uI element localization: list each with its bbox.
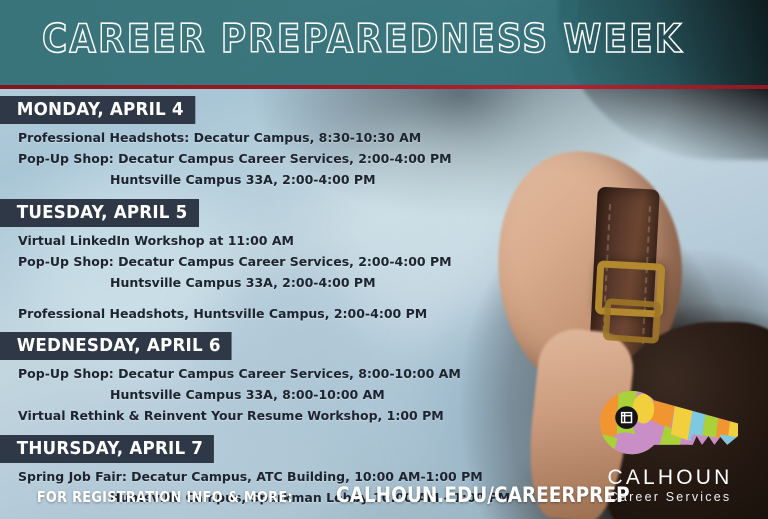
page-title: CAREER PREPAREDNESS WEEK [42, 18, 658, 62]
event-list-wednesday: Pop-Up Shop: Decatur Campus Career Servi… [0, 363, 560, 426]
day-heading-tuesday: TUESDAY, APRIL 5 [0, 199, 199, 227]
colorful-key-icon [595, 387, 745, 461]
event-item: Virtual Rethink & Reinvent Your Resume W… [0, 405, 560, 426]
day-block-monday: MONDAY, APRIL 4 Professional Headshots: … [0, 96, 560, 190]
day-heading-thursday: THURSDAY, APRIL 7 [0, 435, 214, 463]
schedule-list: MONDAY, APRIL 4 Professional Headshots: … [0, 96, 560, 508]
event-item: Huntsville Campus 33A, 8:00-10:00 AM [0, 384, 560, 405]
day-block-tuesday: TUESDAY, APRIL 5 Virtual LinkedIn Worksh… [0, 199, 560, 324]
header-divider [0, 85, 768, 89]
event-list-tuesday: Virtual LinkedIn Workshop at 11:00 AM Po… [0, 230, 560, 324]
day-heading-monday: MONDAY, APRIL 4 [0, 96, 195, 124]
cta-url-link[interactable]: CALHOUN.EDU/CAREERPREP [336, 483, 630, 507]
event-item: Pop-Up Shop: Decatur Campus Career Servi… [0, 148, 560, 169]
logo-tagline: Career Services [590, 489, 750, 505]
event-item: Virtual LinkedIn Workshop at 11:00 AM [0, 230, 560, 251]
cta-prefix-label: FOR REGISTRATION INFO & MORE: [37, 488, 293, 506]
event-item: Professional Headshots, Huntsville Campu… [0, 303, 560, 324]
event-list-monday: Professional Headshots: Decatur Campus, … [0, 127, 560, 190]
event-item: Huntsville Campus 33A, 2:00-4:00 PM [0, 272, 560, 293]
event-item: Huntsville Campus 33A, 2:00-4:00 PM [0, 169, 560, 190]
event-item: Pop-Up Shop: Decatur Campus Career Servi… [0, 251, 560, 272]
day-heading-wednesday: WEDNESDAY, APRIL 6 [0, 332, 232, 360]
day-block-wednesday: WEDNESDAY, APRIL 6 Pop-Up Shop: Decatur … [0, 332, 560, 426]
event-item: Pop-Up Shop: Decatur Campus Career Servi… [0, 363, 560, 384]
event-item: Professional Headshots: Decatur Campus, … [0, 127, 560, 148]
logo-emblem-circle [615, 406, 638, 429]
logo-wordmark: CALHOUN [590, 467, 750, 489]
poster-canvas: CAREER PREPAREDNESS WEEK MONDAY, APRIL 4… [0, 0, 768, 519]
registration-cta: FOR REGISTRATION INFO & MORE: CALHOUN.ED… [16, 483, 649, 507]
brass-buckle-icon [603, 298, 662, 344]
calhoun-career-services-logo: CALHOUN Career Services [590, 387, 750, 505]
